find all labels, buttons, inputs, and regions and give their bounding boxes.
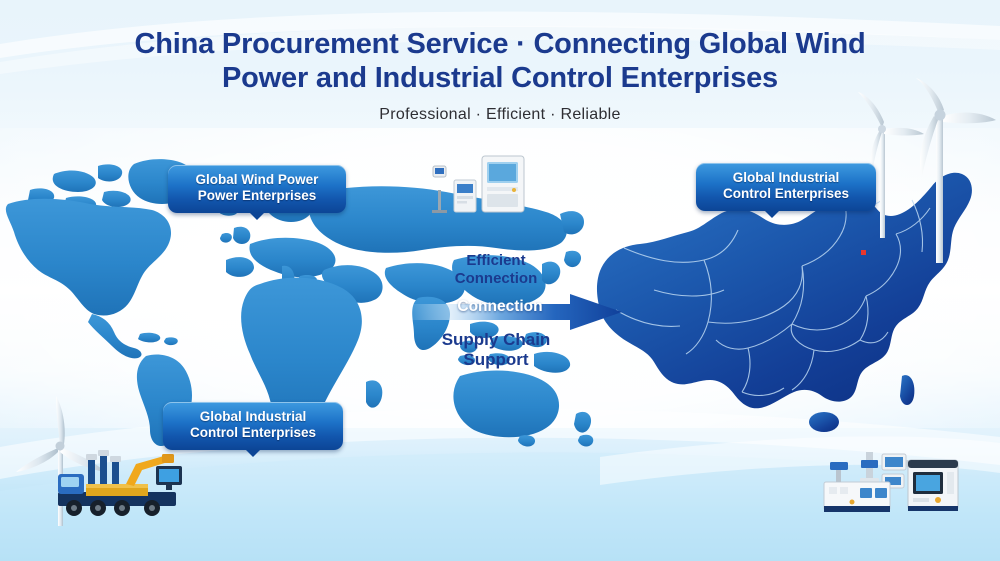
header: China Procurement Service · Connecting G… [0, 28, 1000, 124]
connector-label-top: Efficient Connection [400, 252, 592, 287]
badge-china-industrial-control[interactable]: Global Industrial Control Enterprises [696, 163, 876, 211]
infographic-poster: China Procurement Service · Connecting G… [0, 0, 1000, 561]
badge-global-industrial-control[interactable]: Global Industrial Control Enterprises [163, 402, 343, 450]
industrial-control-equipment-icon [424, 150, 536, 218]
connector-block: Efficient Connection Connection Supply C… [400, 252, 620, 372]
industrial-control-cabinets-icon [820, 438, 966, 522]
page-subtitle: Professional · Efficient · Reliable [0, 106, 1000, 124]
mobile-drilling-rig-truck-icon [52, 440, 194, 522]
page-title: China Procurement Service · Connecting G… [0, 28, 1000, 95]
badge-global-wind-power[interactable]: Global Wind Power Power Enterprises [168, 165, 346, 213]
connector-label-bottom: Supply Chain Support [400, 330, 592, 371]
connector-arrow-label: Connection [420, 298, 580, 316]
